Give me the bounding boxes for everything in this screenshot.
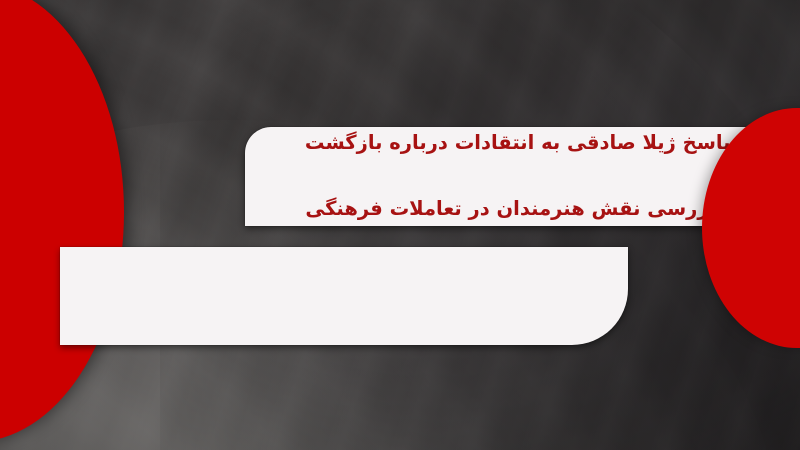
subtitle-panel <box>60 247 628 345</box>
presentation-slide: تحلیل پاسخ ژیلا صادقی به انتقادات درباره… <box>0 0 800 450</box>
